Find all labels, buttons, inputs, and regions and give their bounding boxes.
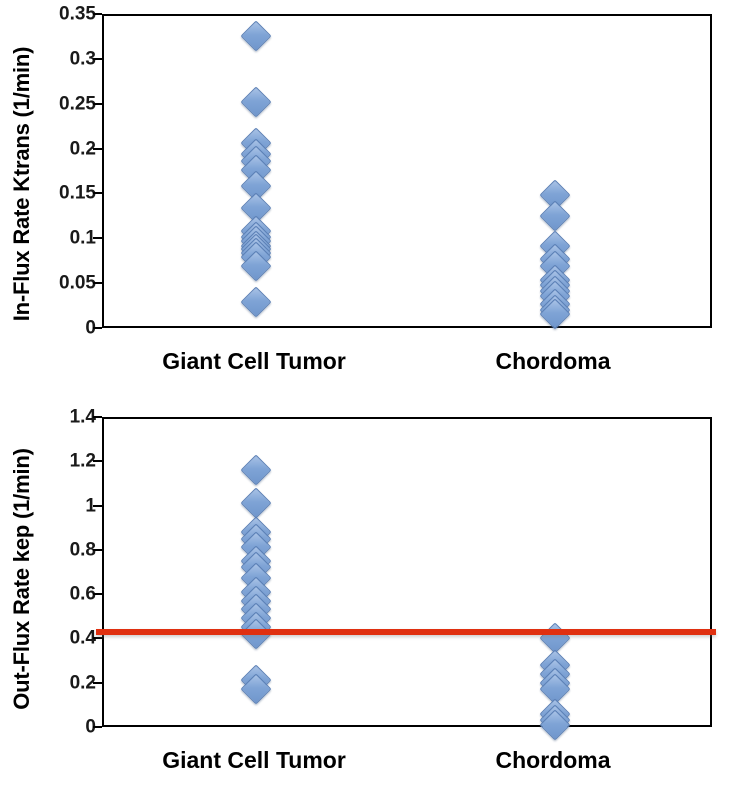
y-tick-mark: [93, 282, 102, 284]
y-tick-label: 0: [36, 718, 96, 737]
y-tick-mark: [93, 103, 102, 105]
y-tick-label: 0: [36, 319, 96, 338]
y-tick-label: 1: [36, 496, 96, 515]
plot-area-outflux: [102, 417, 712, 727]
chart-panel-outflux: Out-Flux Rate kep (1/min) 00.20.40.60.81…: [0, 397, 729, 797]
y-tick-mark: [93, 58, 102, 60]
y-tick-label: 0.6: [36, 585, 96, 604]
y-tick-label: 0.25: [36, 94, 96, 113]
y-tick-label: 0.4: [36, 629, 96, 648]
y-tick-label: 0.2: [36, 673, 96, 692]
x-axis-label-giant-cell-tumor: Giant Cell Tumor: [162, 348, 346, 375]
figure-container: In-Flux Rate Ktrans (1/min) 00.050.10.15…: [0, 0, 729, 797]
y-tick-mark: [93, 505, 102, 507]
data-point: [240, 454, 271, 485]
y-tick-label: 0.35: [36, 5, 96, 24]
y-tick-mark: [93, 682, 102, 684]
y-tick-mark: [93, 460, 102, 462]
data-point: [240, 87, 271, 118]
x-axis-label-giant-cell-tumor: Giant Cell Tumor: [162, 747, 346, 774]
y-tick-label: 0.05: [36, 274, 96, 293]
y-tick-mark: [93, 192, 102, 194]
chart-panel-influx: In-Flux Rate Ktrans (1/min) 00.050.10.15…: [0, 0, 729, 397]
y-tick-mark: [93, 13, 102, 15]
threshold-line: [96, 629, 716, 635]
y-tick-label: 0.2: [36, 139, 96, 158]
data-point: [240, 20, 271, 51]
y-tick-mark: [93, 593, 102, 595]
x-axis-label-chordoma: Chordoma: [496, 747, 611, 774]
data-point: [539, 201, 570, 232]
y-tick-mark: [93, 726, 102, 728]
y-tick-mark: [93, 327, 102, 329]
y-tick-label: 0.8: [36, 540, 96, 559]
y-tick-label: 1.4: [36, 408, 96, 427]
data-point: [240, 488, 271, 519]
y-tick-mark: [93, 637, 102, 639]
y-tick-label: 0.1: [36, 229, 96, 248]
y-tick-mark: [93, 237, 102, 239]
y-tick-mark: [93, 549, 102, 551]
y-tick-label: 0.15: [36, 184, 96, 203]
y-tick-mark: [93, 416, 102, 418]
y-tick-label: 1.2: [36, 452, 96, 471]
y-tick-mark: [93, 148, 102, 150]
x-axis-label-chordoma: Chordoma: [496, 348, 611, 375]
data-point: [240, 287, 271, 318]
plot-area-influx: [102, 14, 712, 328]
y-tick-label: 0.3: [36, 49, 96, 68]
